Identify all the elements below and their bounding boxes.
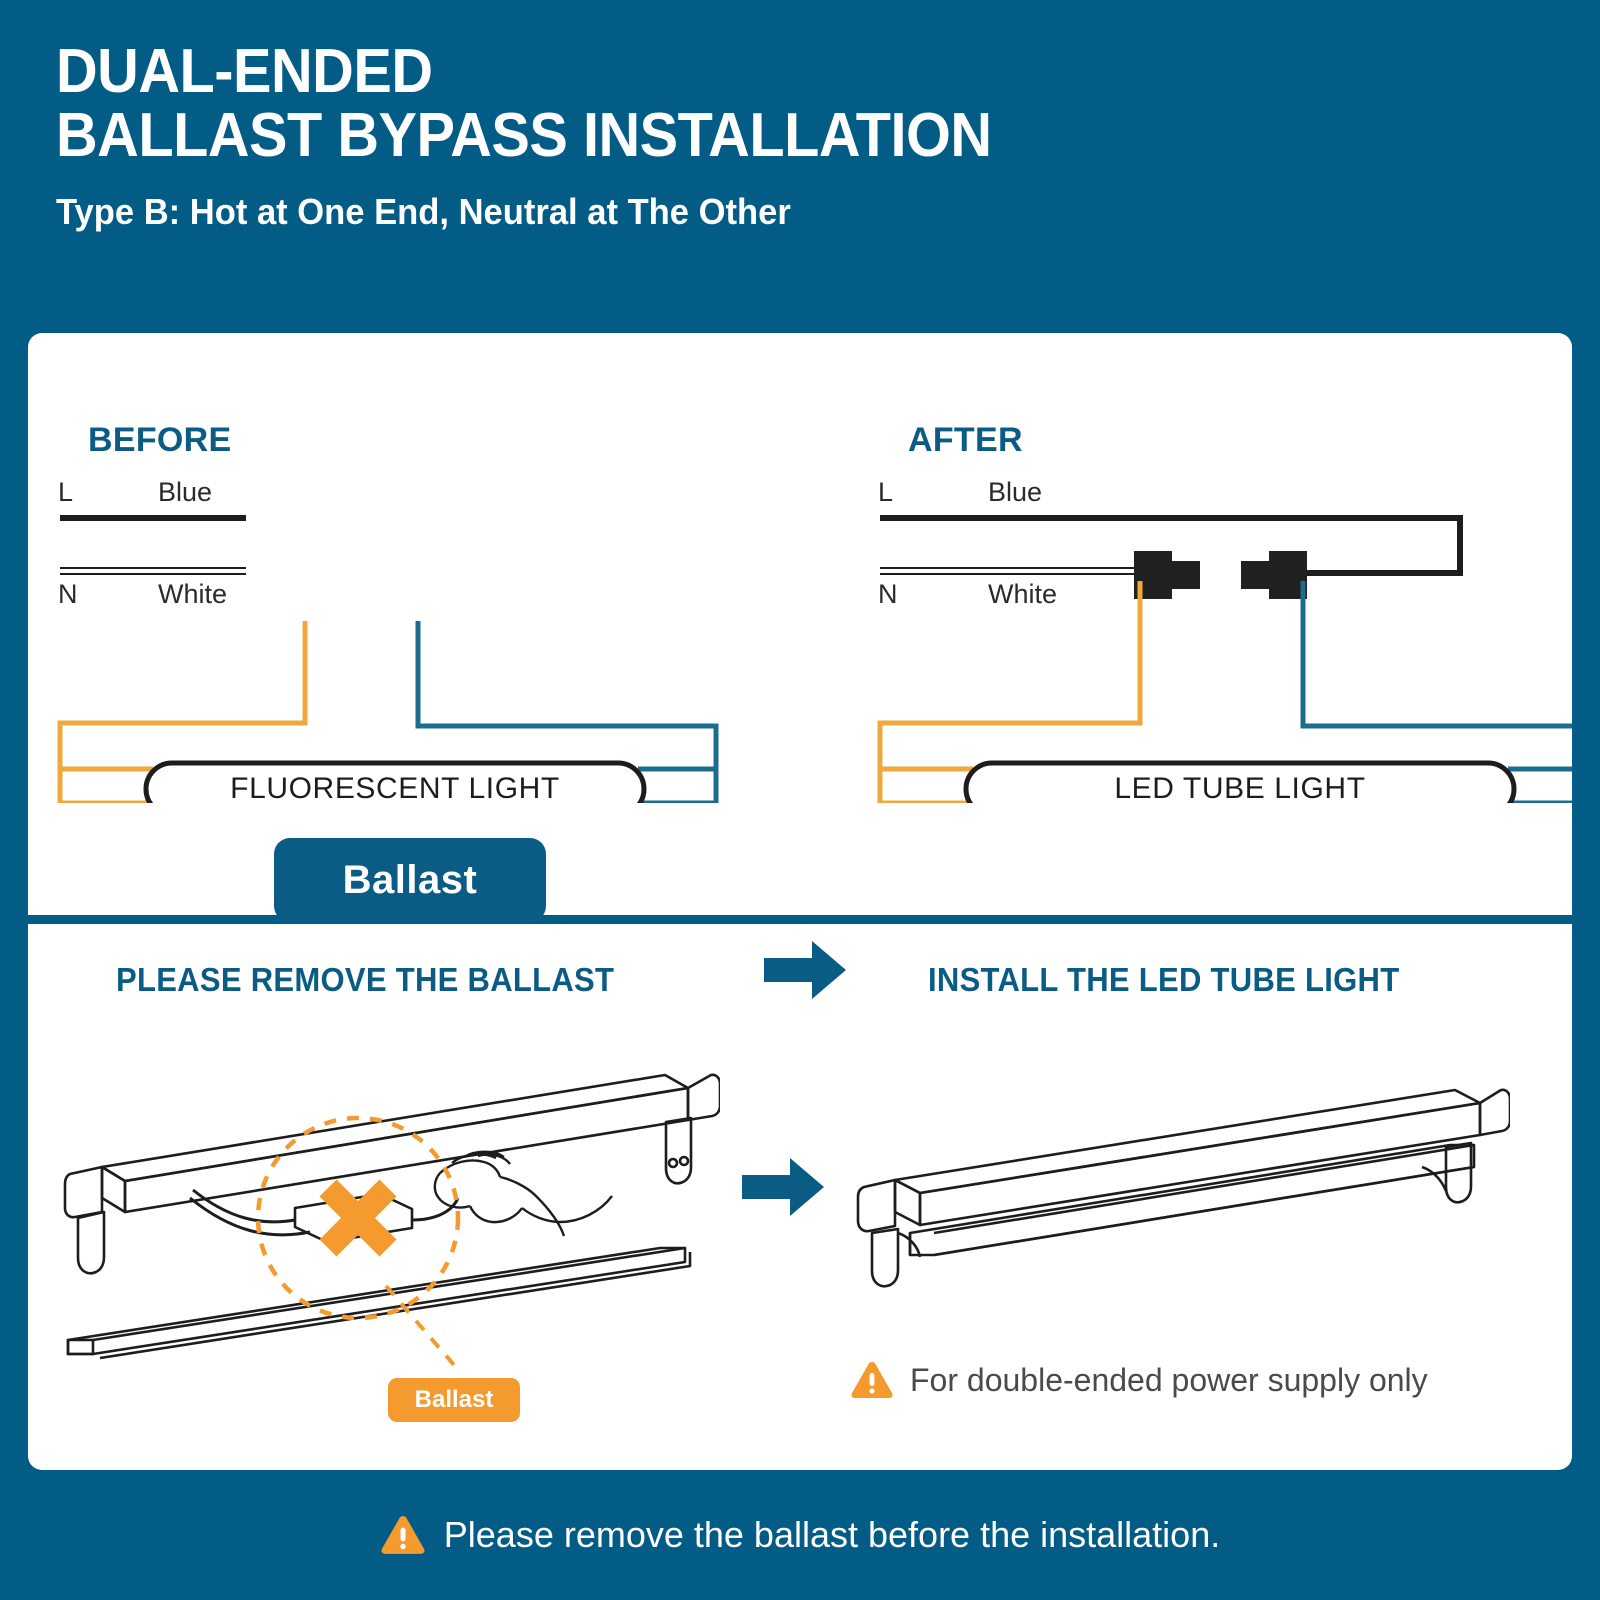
page-title: DUAL-ENDED BALLAST BYPASS INSTALLATION: [56, 40, 1358, 168]
ballast-wire-b: [190, 1198, 310, 1235]
removed-channel-cap: [68, 1340, 93, 1354]
warning-triangle-icon: [380, 1514, 426, 1556]
right-hanger: [666, 1118, 691, 1183]
before-wiring-diagram: L Blue N White FLUORESCENT LIGHT: [28, 473, 788, 803]
bottom-transition-arrow-icon: [742, 1158, 824, 1216]
remove-ballast-label: PLEASE REMOVE THE BALLAST: [116, 961, 614, 999]
led-tube-body: [910, 1145, 1474, 1255]
hot-label: L: [58, 477, 73, 507]
after-wiring-diagram: L Blue N White LED TUBE LIGHT: [848, 473, 1572, 803]
install-tube-label: INSTALL THE LED TUBE LIGHT: [928, 961, 1399, 999]
fixture-with-ballast-illustration: [60, 1040, 720, 1370]
housing-top-face: [102, 1075, 688, 1181]
housing-top-face: [895, 1090, 1480, 1193]
ballast-wire-a: [193, 1190, 295, 1222]
hand-icon: [435, 1152, 612, 1236]
right-socket-arm: [1422, 1167, 1446, 1191]
before-label: BEFORE: [88, 421, 231, 460]
left-socket: [872, 1229, 898, 1286]
neutral-label: N: [58, 579, 78, 609]
housing-left-edge: [895, 1180, 920, 1225]
led-tube-top-edge: [934, 1145, 1474, 1233]
panel-divider: [28, 915, 1572, 924]
double-ended-note: For double-ended power supply only: [850, 1360, 1428, 1400]
ballast-callout-label: Ballast: [415, 1386, 494, 1414]
led-tube-label: LED TUBE LIGHT: [1114, 772, 1365, 803]
left-end-cap: [858, 1180, 895, 1231]
hot-color-label: Blue: [158, 477, 212, 507]
header: DUAL-ENDED BALLAST BYPASS INSTALLATION T…: [56, 40, 1456, 234]
removed-channel-back: [100, 1252, 690, 1358]
removed-channel-top: [68, 1248, 685, 1354]
right-socket: [1446, 1143, 1471, 1202]
hot-color-label: Blue: [988, 477, 1042, 507]
ballast-block: Ballast: [274, 838, 546, 922]
bracket-hole-a: [669, 1159, 677, 1167]
right-end-cap: [1480, 1090, 1510, 1135]
ballast-block-label: Ballast: [343, 858, 478, 903]
fluorescent-tube-label: FLUORESCENT LIGHT: [230, 772, 560, 803]
after-label: AFTER: [908, 421, 1023, 460]
bracket-hole-b: [680, 1157, 688, 1165]
neutral-label: N: [878, 579, 898, 609]
warning-triangle-icon: [850, 1360, 894, 1400]
left-end-cap: [65, 1167, 102, 1217]
page-subtitle: Type B: Hot at One End, Neutral at The O…: [56, 190, 1400, 234]
led-tube-installed-illustration: [850, 1055, 1510, 1315]
housing-front-face: [920, 1103, 1480, 1225]
removed-channel-edge: [93, 1248, 685, 1340]
wire-connector-left-icon: [1134, 551, 1200, 599]
left-hanger: [78, 1212, 104, 1273]
hot-label: L: [878, 477, 893, 507]
housing-left-cap: [102, 1167, 125, 1212]
footer-warning-text: Please remove the ballast before the ins…: [444, 1514, 1220, 1556]
footer-warning: Please remove the ballast before the ins…: [0, 1490, 1600, 1580]
right-end-cap: [688, 1075, 720, 1120]
top-transition-arrow-icon: [764, 941, 846, 999]
double-ended-note-text: For double-ended power supply only: [910, 1362, 1428, 1399]
ballast-wire-c: [412, 1198, 458, 1220]
neutral-color-label: White: [988, 579, 1057, 609]
ballast-callout-tag: Ballast: [388, 1378, 520, 1422]
neutral-color-label: White: [158, 579, 227, 609]
wire-connector-right-icon: [1241, 551, 1307, 599]
